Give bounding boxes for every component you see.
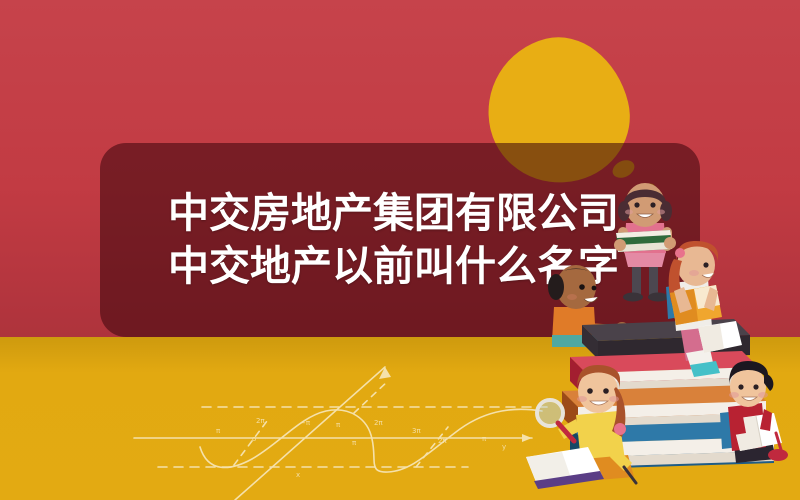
girl-standing-with-green-book <box>614 183 676 302</box>
svg-text:x: x <box>296 471 300 479</box>
children-reading-illustration <box>520 175 800 500</box>
svg-text:π: π <box>216 427 221 435</box>
svg-text:−π: −π <box>300 419 311 427</box>
banner: π 2π −π π o 2π π 3π 2π π x y 中交房地产集团有限公司… <box>0 0 800 500</box>
svg-text:2π: 2π <box>438 437 447 445</box>
boy-reading-red-shirt <box>720 361 788 463</box>
svg-text:π: π <box>352 439 357 447</box>
svg-text:π: π <box>336 421 341 429</box>
trigonometric-graph-decoration: π 2π −π π o 2π π 3π 2π π x y <box>130 355 550 500</box>
svg-text:2π: 2π <box>256 417 265 425</box>
svg-text:y: y <box>502 443 506 451</box>
girl-with-magnifying-glass <box>526 365 636 489</box>
svg-text:3π: 3π <box>412 427 421 435</box>
svg-text:2π: 2π <box>374 419 383 427</box>
svg-text:o: o <box>252 435 256 443</box>
svg-text:π: π <box>482 435 487 443</box>
